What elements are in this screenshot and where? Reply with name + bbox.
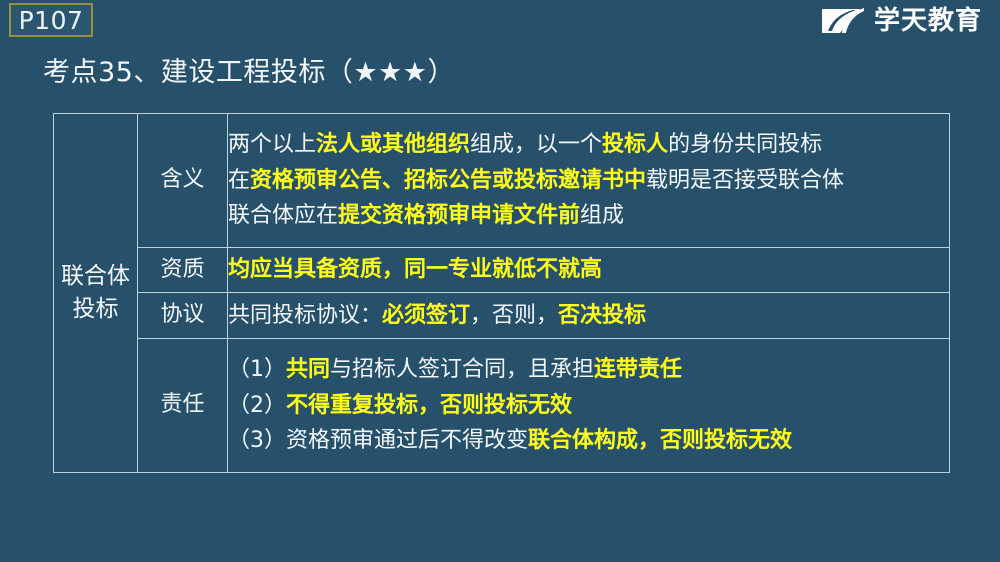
text-span: 联合体应在 bbox=[228, 203, 338, 228]
highlight-span: 必须签订 bbox=[382, 303, 470, 328]
text-span: 两个以上 bbox=[228, 132, 316, 157]
highlight-span: 提交资格预审申请文件前 bbox=[338, 203, 580, 228]
page-title: 考点35、建设工程投标（★★★） bbox=[43, 57, 455, 89]
row-label-xieyi: 协议 bbox=[138, 293, 228, 338]
text-span: 的身份共同投标 bbox=[668, 132, 822, 157]
content-line: 两个以上法人或其他组织组成，以一个投标人的身份共同投标 bbox=[228, 127, 949, 163]
text-span: （2） bbox=[228, 393, 286, 418]
highlight-span: 投标人 bbox=[602, 132, 668, 157]
highlight-span: 法人或其他组织 bbox=[316, 132, 470, 157]
content-line: （1）共同与招标人签订合同，且承担连带责任 bbox=[228, 352, 949, 388]
brand-logo: 学天教育 bbox=[820, 4, 982, 37]
highlight-span: 联合体构成，否则投标无效 bbox=[528, 428, 792, 453]
road-swoosh-icon bbox=[820, 7, 866, 35]
table-body: 联合体 投标 含义 两个以上法人或其他组织组成，以一个投标人的身份共同投标 在资… bbox=[54, 114, 950, 473]
table-row: 责任 （1）共同与招标人签订合同，且承担连带责任 （2）不得重复投标，否则投标无… bbox=[54, 338, 950, 472]
highlight-span: 连带责任 bbox=[594, 357, 682, 382]
text-span: 在 bbox=[228, 168, 250, 193]
highlight-span: 否决投标 bbox=[558, 303, 646, 328]
text-span: 载明是否接受联合体 bbox=[646, 168, 844, 193]
table-row: 资质 均应当具备资质，同一专业就低不就高 bbox=[54, 248, 950, 293]
table-row: 协议 共同投标协议：必须签订，否则，否决投标 bbox=[54, 293, 950, 338]
text-span: ，否则， bbox=[470, 303, 558, 328]
page-number-badge: P107 bbox=[9, 3, 93, 37]
row-label-hanyi: 含义 bbox=[138, 114, 228, 248]
content-line: 联合体应在提交资格预审申请文件前组成 bbox=[228, 198, 949, 234]
content-line: 在资格预审公告、招标公告或投标邀请书中载明是否接受联合体 bbox=[228, 163, 949, 199]
content-line: （2）不得重复投标，否则投标无效 bbox=[228, 388, 949, 424]
text-span: （1） bbox=[228, 357, 286, 382]
content-table-wrapper: 联合体 投标 含义 两个以上法人或其他组织组成，以一个投标人的身份共同投标 在资… bbox=[53, 113, 950, 473]
text-span: 共同投标协议： bbox=[228, 303, 382, 328]
highlight-span: 不得重复投标，否则投标无效 bbox=[286, 393, 572, 418]
text-span: 与招标人签订合同，且承担 bbox=[330, 357, 594, 382]
brand-name: 学天教育 bbox=[874, 8, 982, 34]
content-line: 共同投标协议：必须签订，否则，否决投标 bbox=[228, 298, 949, 334]
highlight-span: 均应当具备资质，同一专业就低不就高 bbox=[228, 257, 602, 282]
slide-canvas: P107 学天教育 考点35、建设工程投标（★★★） 联合体 投标 含义 bbox=[0, 0, 1000, 562]
text-span: 组成，以一个 bbox=[470, 132, 602, 157]
row-label-zizhi: 资质 bbox=[138, 248, 228, 293]
row-group-label-cell: 联合体 投标 bbox=[54, 114, 138, 473]
row-content-hanyi: 两个以上法人或其他组织组成，以一个投标人的身份共同投标 在资格预审公告、招标公告… bbox=[228, 114, 950, 248]
highlight-span: 共同 bbox=[286, 357, 330, 382]
row-group-label-line1: 联合体 bbox=[54, 260, 137, 293]
row-group-label-line2: 投标 bbox=[54, 293, 137, 326]
text-span: 组成 bbox=[580, 203, 624, 228]
page-number-label: P107 bbox=[19, 8, 84, 33]
row-content-zeren: （1）共同与招标人签订合同，且承担连带责任 （2）不得重复投标，否则投标无效 （… bbox=[228, 338, 950, 472]
table-row: 联合体 投标 含义 两个以上法人或其他组织组成，以一个投标人的身份共同投标 在资… bbox=[54, 114, 950, 248]
content-line: （3）资格预审通过后不得改变联合体构成，否则投标无效 bbox=[228, 423, 949, 459]
highlight-span: 资格预审公告、招标公告或投标邀请书中 bbox=[250, 168, 646, 193]
content-line: 均应当具备资质，同一专业就低不就高 bbox=[228, 252, 949, 288]
text-span: （3）资格预审通过后不得改变 bbox=[228, 428, 528, 453]
row-content-zizhi: 均应当具备资质，同一专业就低不就高 bbox=[228, 248, 950, 293]
row-content-xieyi: 共同投标协议：必须签订，否则，否决投标 bbox=[228, 293, 950, 338]
content-table: 联合体 投标 含义 两个以上法人或其他组织组成，以一个投标人的身份共同投标 在资… bbox=[53, 113, 950, 473]
row-label-zeren: 责任 bbox=[138, 338, 228, 472]
